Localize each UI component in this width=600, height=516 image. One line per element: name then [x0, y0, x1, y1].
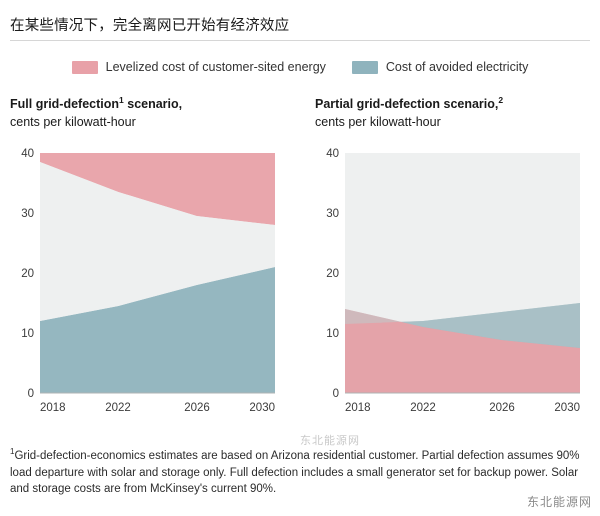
- chart-panel-partial-defection: Partial grid-defection scenario,2 cents …: [315, 95, 595, 413]
- x-tick-2022-full: 2022: [105, 402, 131, 413]
- x-tick-2026-full: 2026: [184, 402, 210, 413]
- x-tick-2018-full: 2018: [40, 402, 66, 413]
- y-tick-40-partial: 40: [326, 148, 339, 160]
- plot-svg-full: 40 30 20 10 0 2018 2022 2026 2030: [10, 143, 280, 413]
- legend-label-levelized-cost: Levelized cost of customer-sited energy: [106, 60, 326, 74]
- legend-item-avoided-electricity: Cost of avoided electricity: [352, 60, 528, 74]
- legend-item-levelized-cost: Levelized cost of customer-sited energy: [72, 60, 326, 74]
- plot-area-full: 40 30 20 10 0 2018 2022 2026 2030: [10, 143, 280, 413]
- x-tick-2022-partial: 2022: [410, 402, 436, 413]
- footnote-text: Grid-defection-economics estimates are b…: [10, 450, 580, 495]
- y-tick-20-partial: 20: [326, 268, 339, 280]
- y-tick-10-full: 10: [21, 328, 34, 340]
- chart-title-partial: Partial grid-defection scenario,2: [315, 95, 595, 113]
- y-tick-30-full: 30: [21, 208, 34, 220]
- x-tick-2030-full: 2030: [249, 402, 275, 413]
- x-tick-2026-partial: 2026: [489, 402, 515, 413]
- page-title: 在某些情况下，完全离网已开始有经济效应: [10, 14, 289, 35]
- y-tick-10-partial: 10: [326, 328, 339, 340]
- y-tick-0-full: 0: [28, 388, 34, 400]
- chart-subtitle-partial: cents per kilowatt-hour: [315, 114, 595, 131]
- y-tick-20-full: 20: [21, 268, 34, 280]
- chart-title-partial-text: Partial grid-defection scenario,: [315, 97, 498, 111]
- legend-swatch-teal-icon: [352, 61, 378, 74]
- plot-area-partial: 40 30 20 10 0 2018 2022 2026 2030: [315, 143, 585, 413]
- legend-label-avoided-electricity: Cost of avoided electricity: [386, 60, 528, 74]
- header-divider: [10, 40, 590, 41]
- x-tick-2030-partial: 2030: [554, 402, 580, 413]
- chart-subtitle-full: cents per kilowatt-hour: [10, 114, 300, 131]
- chart-legend: Levelized cost of customer-sited energy …: [0, 60, 600, 74]
- chart-panel-full-defection: Full grid-defection1 scenario, cents per…: [10, 95, 300, 413]
- chart-title-full-tail: scenario,: [124, 97, 182, 111]
- chart-title-partial-superscript: 2: [498, 95, 503, 105]
- plot-svg-partial: 40 30 20 10 0 2018 2022 2026 2030: [315, 143, 585, 413]
- x-tick-2018-partial: 2018: [345, 402, 371, 413]
- watermark: 东北能源网: [527, 493, 592, 510]
- y-tick-30-partial: 30: [326, 208, 339, 220]
- chart-title-full-text: Full grid-defection: [10, 97, 119, 111]
- y-tick-40-full: 40: [21, 148, 34, 160]
- watermark-secondary: 东北能源网: [300, 432, 360, 448]
- y-tick-0-partial: 0: [333, 388, 339, 400]
- chart-title-full: Full grid-defection1 scenario,: [10, 95, 300, 113]
- legend-swatch-pink-icon: [72, 61, 98, 74]
- footnote: 1Grid-defection-economics estimates are …: [10, 446, 586, 498]
